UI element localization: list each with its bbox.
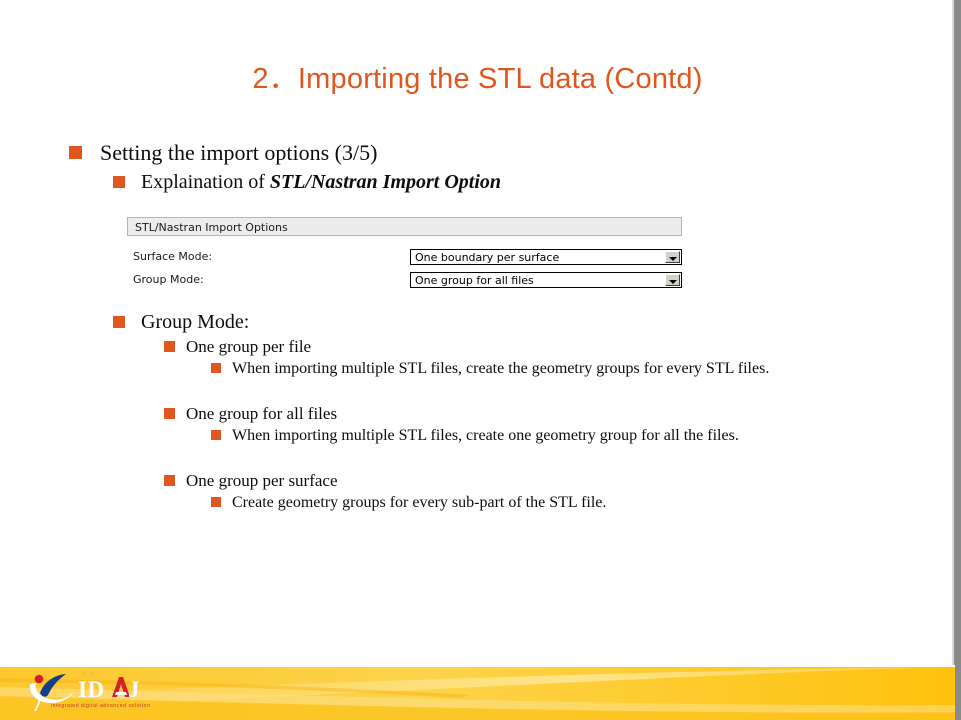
bullet-level2-group-mode: Group Mode: [0,310,900,336]
surface-mode-value: One boundary per surface [415,251,559,264]
bullet-level3-one-group-per-surface: One group per surface [0,470,850,492]
slide-edge-strip [954,0,961,720]
group-mode-label: Group Mode: [133,273,204,287]
bullet-square-icon [164,475,175,486]
bullet-text: Setting the import options (3/5) [100,140,377,166]
bullet-text: Group Mode: [141,310,249,334]
slide-canvas: 2．Importing the STL data (Contd) Setting… [0,0,961,720]
bullet-level4-detail: Create geometry groups for every sub-par… [0,492,920,516]
bullet-text: One group for all files [186,403,337,424]
chevron-down-icon[interactable] [665,274,680,286]
bullet-text: When importing multiple STL files, creat… [232,358,904,379]
idaj-logo: ID J integrated digital advanced solutio… [24,670,159,712]
bullet-square-icon [113,316,125,328]
bullet-level3-one-group-for-all-files: One group for all files [0,403,850,425]
dialog-row-group-mode: Group Mode: One group for all files [127,272,682,288]
dialog-header: STL/Nastran Import Options [127,217,682,236]
bullet-level1: Setting the import options (3/5) [0,140,900,168]
page-title: 2．Importing the STL data (Contd) [0,62,955,96]
bullet-level3-one-group-per-file: One group per file [0,336,850,358]
bullet-text: Create geometry groups for every sub-par… [232,492,932,513]
bullet-text-emphasis: STL/Nastran Import Option [270,171,501,193]
bullet-text: One group per file [186,336,311,357]
chevron-down-icon[interactable] [665,251,680,263]
bullet-text: Explaination of STL/Nastran Import Optio… [141,170,501,194]
stl-nastran-import-options-dialog: STL/Nastran Import Options Surface Mode:… [127,217,684,287]
bullet-square-icon [211,430,221,440]
bullet-text: One group per surface [186,470,338,491]
bullet-level4-detail: When importing multiple STL files, creat… [0,425,920,469]
bullet-square-icon [211,497,221,507]
bullet-square-icon [164,408,175,419]
bullet-square-icon [69,146,82,159]
bullet-square-icon [113,176,125,188]
bullet-square-icon [164,341,175,352]
group-mode-value: One group for all files [415,274,534,287]
bullet-level2-explanation: Explaination of STL/Nastran Import Optio… [0,170,900,196]
group-mode-select[interactable]: One group for all files [410,272,682,288]
surface-mode-select[interactable]: One boundary per surface [410,249,682,265]
logo-tagline: integrated digital advanced solution [51,703,150,709]
dialog-row-surface-mode: Surface Mode: One boundary per surface [127,249,682,265]
surface-mode-label: Surface Mode: [133,250,212,264]
bullet-level4-detail: When importing multiple STL files, creat… [0,358,920,402]
dialog-header-label: STL/Nastran Import Options [135,221,288,234]
bullet-square-icon [211,363,221,373]
svg-text:J: J [128,677,140,702]
svg-text:ID: ID [78,677,105,702]
bullet-text-plain: Explaination of [141,171,270,193]
bullet-text: When importing multiple STL files, creat… [232,425,864,446]
